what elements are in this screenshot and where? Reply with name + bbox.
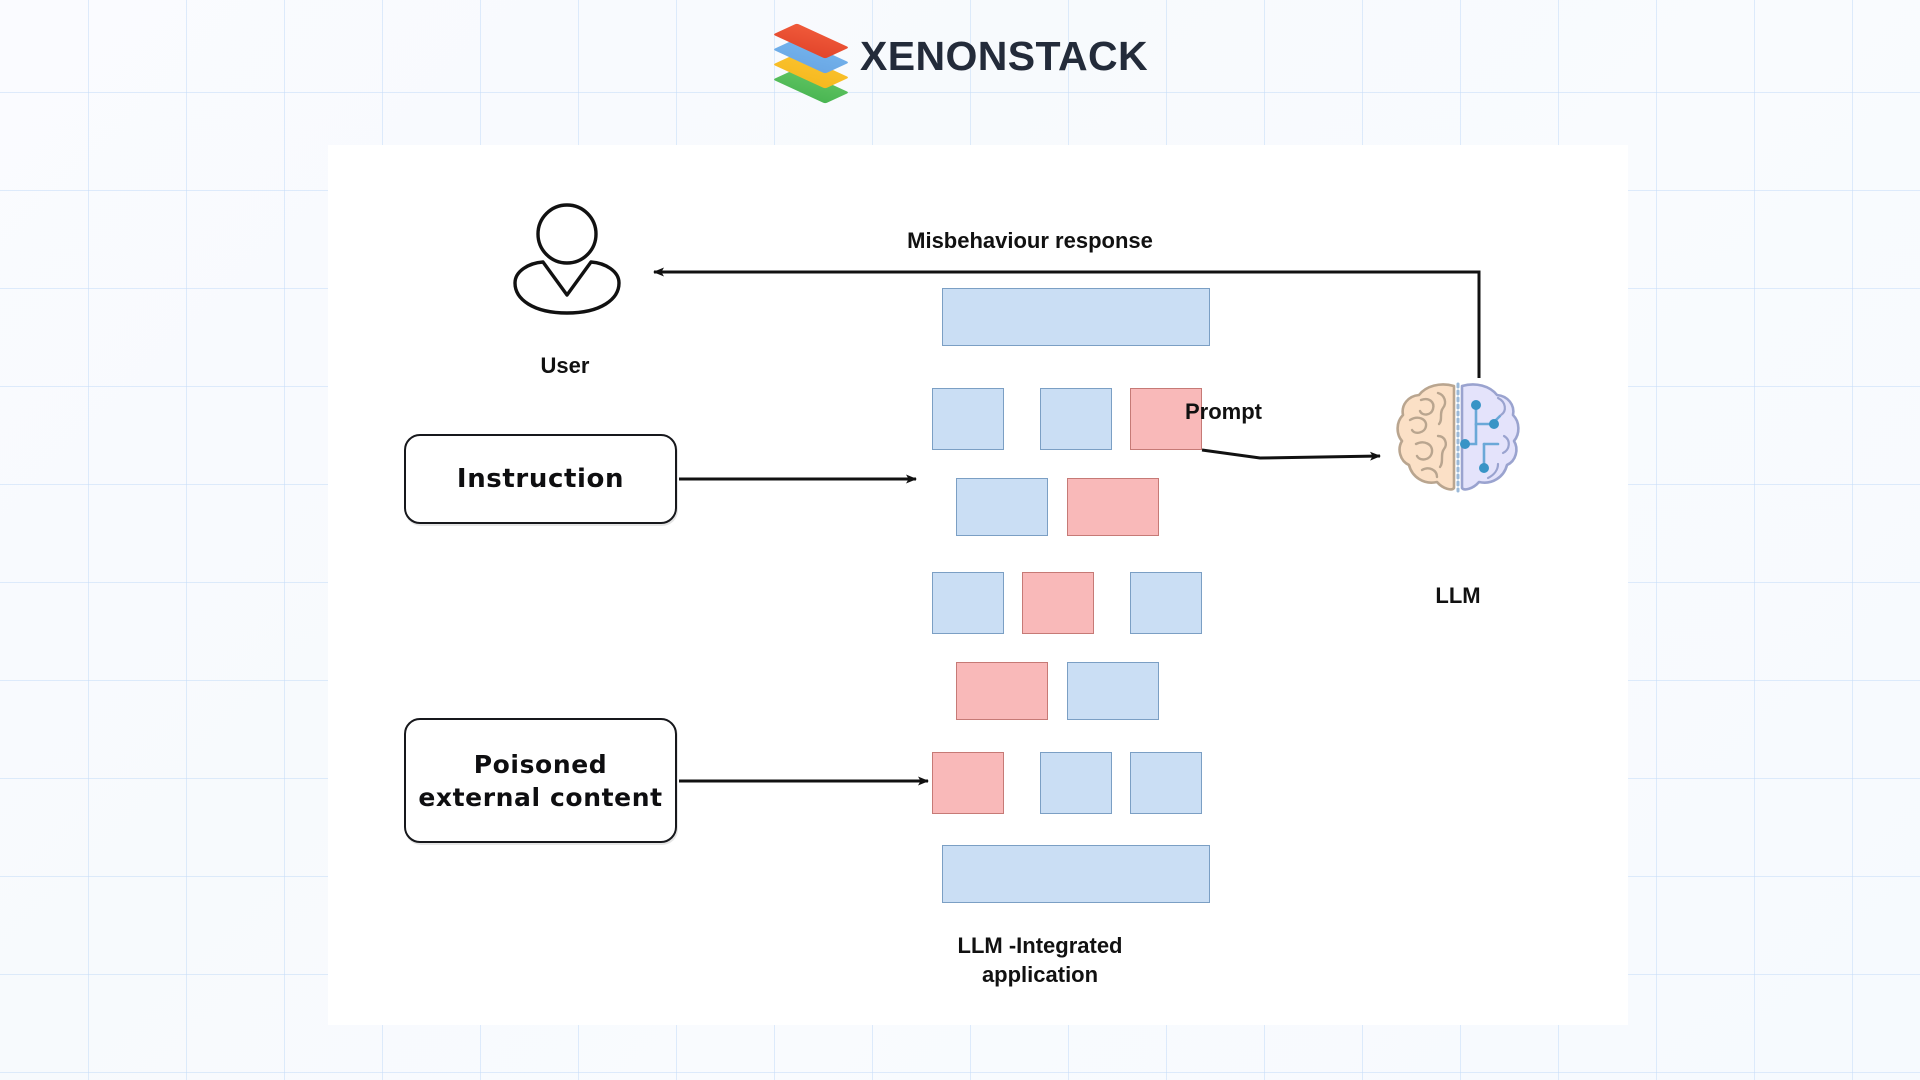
prompt-arrow — [1202, 450, 1380, 458]
diagram-arrows — [0, 0, 1920, 1080]
diagram-page: XENONSTACK User Instruction Poisoned ext… — [0, 0, 1920, 1080]
misbehaviour-response-arrow — [654, 272, 1479, 378]
